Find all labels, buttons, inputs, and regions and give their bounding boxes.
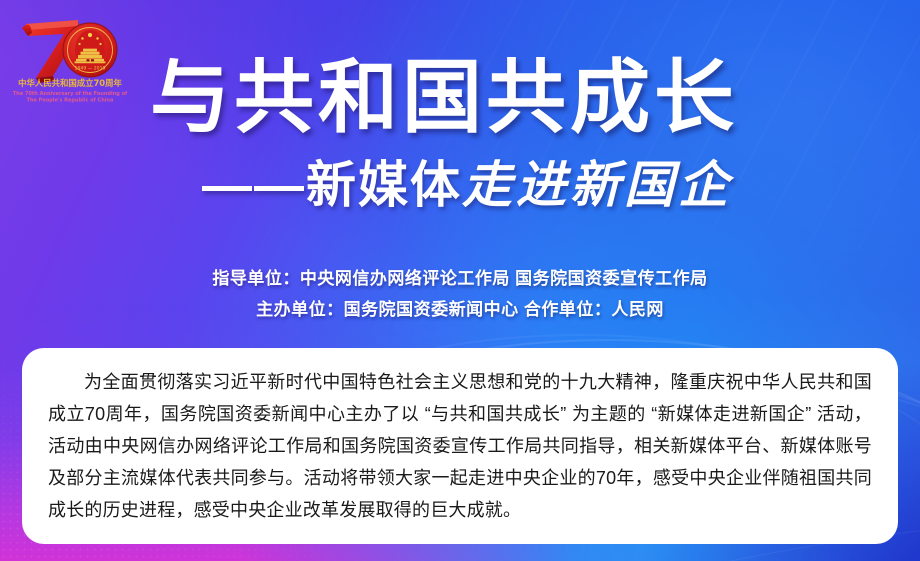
intro-card: 为全面贯彻落实习近平新时代中国特色社会主义思想和党的十九大精神，隆重庆祝中华人民…	[22, 348, 898, 544]
page-subtitle: ——新媒体走进新国企	[202, 160, 732, 210]
subtitle-brush-text: 走进新国企	[462, 155, 732, 214]
host-units-line: 主办单位：国务院国资委新闻中心 合作单位：人民网	[0, 295, 920, 320]
campaign-banner: 1949 — 2019 中华人民共和国成立70周年 The 70th Anniv…	[0, 0, 920, 561]
anniversary-emblem: 1949 — 2019 中华人民共和国成立70周年 The 70th Anniv…	[8, 8, 132, 104]
intro-paragraph: 为全面贯彻落实习近平新时代中国特色社会主义思想和党的十九大精神，隆重庆祝中华人民…	[48, 366, 872, 526]
svg-text:The People's Republic of China: The People's Republic of China	[27, 98, 114, 104]
guidance-units-line: 指导单位：中央网信办网络评论工作局 国务院国资委宣传工作局	[0, 264, 920, 289]
subtitle-prefix: ——新媒体	[202, 157, 462, 213]
svg-text:中华人民共和国成立70周年: 中华人民共和国成立70周年	[18, 78, 122, 88]
svg-text:The 70th Anniversary of the Fo: The 70th Anniversary of the Founding of	[13, 91, 128, 97]
page-title: 与共和国共成长	[150, 58, 738, 138]
svg-text:1949 — 2019: 1949 — 2019	[75, 66, 106, 72]
